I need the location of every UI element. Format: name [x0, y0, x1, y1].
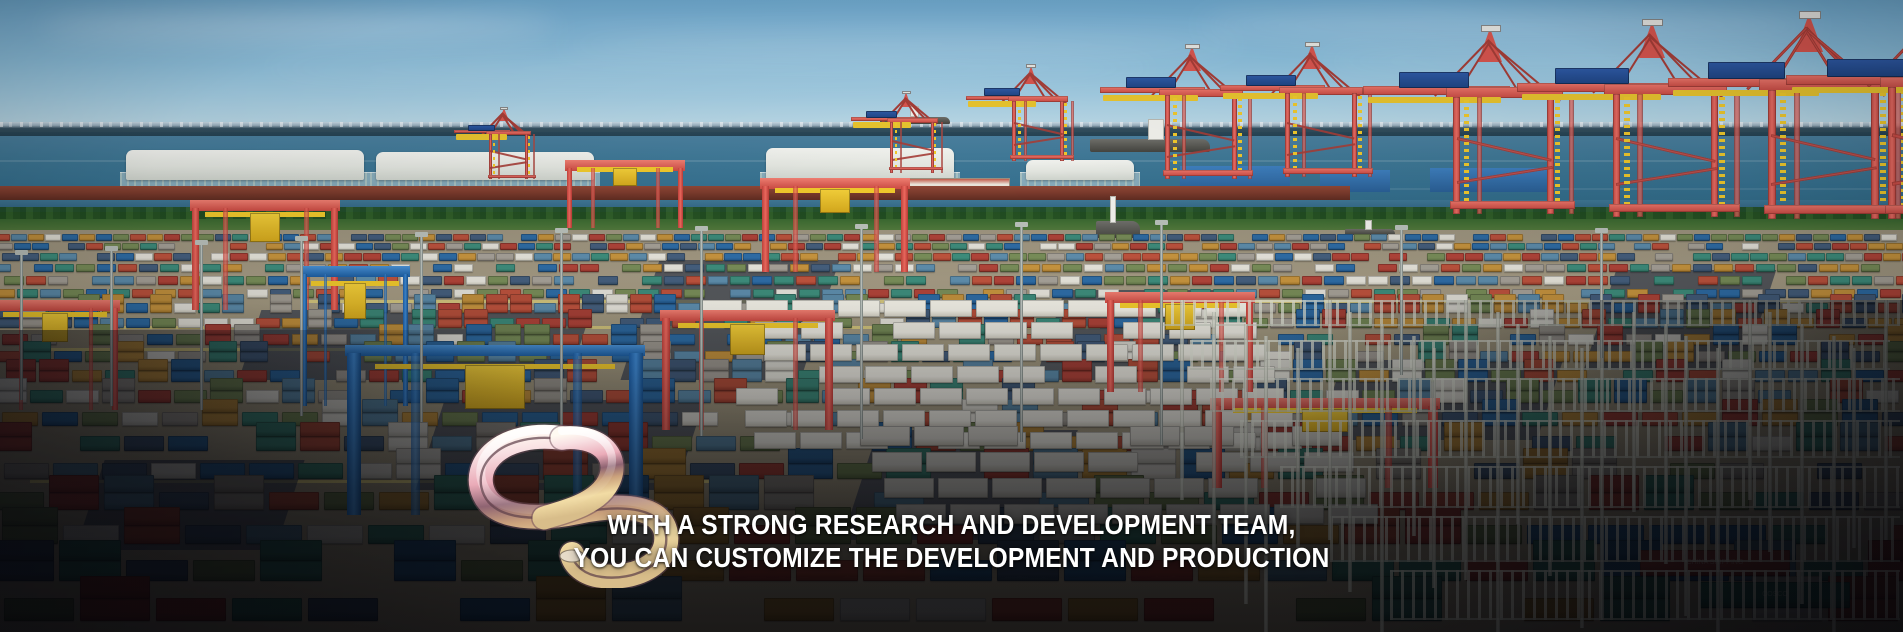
shipping-container [1252, 234, 1268, 241]
shipping-container [1180, 253, 1198, 261]
shipping-container [80, 598, 150, 621]
shipping-container [464, 309, 488, 319]
shipping-container [209, 341, 237, 352]
shipping-container [518, 243, 535, 250]
shipping-container [933, 253, 951, 261]
shipping-container [1354, 234, 1370, 241]
shipping-container [1351, 253, 1369, 261]
shipping-container [1144, 598, 1214, 621]
shipping-container [662, 243, 679, 250]
shipping-container [582, 334, 608, 345]
shipping-container [80, 436, 120, 451]
shipping-container [1218, 253, 1236, 261]
shipping-container [466, 276, 486, 285]
shipping-container [1337, 234, 1353, 241]
shipping-container [966, 388, 1008, 405]
shipping-container [1522, 276, 1542, 285]
shipping-container [1522, 253, 1540, 261]
shipping-container [1231, 264, 1250, 272]
shipping-container [114, 276, 134, 285]
shipping-container [914, 426, 964, 446]
shipping-container [176, 334, 202, 345]
shipping-container [1294, 253, 1312, 261]
racking-post [1832, 336, 1836, 632]
shipping-container [914, 243, 931, 250]
shipping-container [482, 243, 499, 250]
shipping-container [906, 276, 926, 285]
shipping-container [691, 234, 707, 241]
shipping-container [1351, 289, 1372, 298]
shipping-container [150, 303, 172, 313]
shipping-container [611, 334, 637, 345]
light-mast [1020, 222, 1023, 442]
shipping-container [884, 478, 934, 498]
shipping-container [158, 276, 178, 285]
shipping-container [1082, 276, 1102, 285]
shipping-container [1075, 289, 1096, 298]
shipping-container [1819, 264, 1838, 272]
shipping-container [553, 334, 579, 345]
shipping-container [1541, 253, 1559, 261]
shipping-container [1693, 253, 1711, 261]
shipping-container [674, 234, 690, 241]
shipping-container [1022, 300, 1064, 317]
shipping-container [40, 289, 61, 298]
shipping-container [510, 303, 532, 313]
shipping-container [500, 243, 517, 250]
shipping-container [42, 412, 78, 426]
shipping-container [1503, 253, 1521, 261]
shipping-container [1199, 253, 1217, 261]
shipping-container [932, 243, 949, 250]
shipping-container [1811, 289, 1832, 298]
shipping-container [1104, 253, 1122, 261]
shipping-container [1336, 264, 1355, 272]
shipping-container [160, 264, 179, 272]
shipping-container [138, 359, 168, 371]
shipping-container [136, 276, 156, 285]
shipping-container [709, 475, 759, 493]
shipping-container [0, 422, 32, 437]
shipping-container [368, 234, 384, 241]
shipping-container [1166, 243, 1183, 250]
shipping-container [1579, 253, 1597, 261]
shipping-container [438, 309, 462, 319]
shipping-container [979, 264, 998, 272]
shipping-container [1269, 234, 1285, 241]
shipping-container [439, 253, 457, 261]
shipping-container [608, 243, 625, 250]
shipping-container [1588, 264, 1607, 272]
shipping-container [1456, 276, 1476, 285]
shipping-container [1880, 289, 1901, 298]
shipping-container [240, 351, 268, 362]
shipping-container [178, 318, 202, 328]
shipping-container [1745, 234, 1761, 241]
shipping-container [147, 334, 173, 345]
shipping-container [1420, 264, 1439, 272]
shipping-container [708, 234, 724, 241]
shipping-container [1126, 264, 1145, 272]
shipping-container [764, 598, 834, 621]
shipping-container [210, 378, 243, 391]
shipping-container [1161, 253, 1179, 261]
shipping-container [422, 276, 442, 285]
shipping-container [1332, 253, 1350, 261]
shipping-container [640, 234, 656, 241]
shipping-container [891, 289, 912, 298]
shipping-container [524, 334, 550, 345]
shipping-container [902, 344, 944, 361]
shipping-container [1065, 234, 1081, 241]
shipping-container [948, 344, 990, 361]
shipping-container [363, 253, 381, 261]
light-mast [20, 250, 23, 400]
shipping-container [1478, 276, 1498, 285]
shipping-container [1082, 234, 1098, 241]
shipping-container [1273, 264, 1292, 272]
shipping-container [788, 448, 833, 464]
shipping-container [1742, 243, 1759, 250]
caption-line-1: WITH A STRONG RESEARCH AND DEVELOPMENT T… [114, 508, 1789, 541]
shipping-container [1066, 253, 1084, 261]
shipping-container [152, 318, 176, 328]
hero-banner: CHINA SHIPPINGCOSCOCHINA SHIPPINGCOSCO [0, 0, 1903, 632]
shipping-container [1840, 264, 1859, 272]
shipping-container [986, 243, 1003, 250]
racking-post [1684, 336, 1688, 616]
shipping-container [1280, 276, 1300, 285]
shipping-container [975, 410, 1017, 427]
shipping-container [1310, 243, 1327, 250]
shipping-container [572, 234, 588, 241]
cloud-wisp-icon [40, 14, 560, 40]
shipping-container [156, 598, 226, 621]
shipping-container [300, 422, 340, 437]
shipping-container [392, 243, 409, 250]
shipping-container [1490, 234, 1506, 241]
shipping-container [538, 234, 554, 241]
shipping-container [0, 234, 10, 241]
shipping-container [32, 243, 49, 250]
shipping-container [173, 253, 191, 261]
shipping-container [1302, 276, 1322, 285]
shipping-container [972, 276, 992, 285]
shipping-container [727, 264, 746, 272]
shipping-container [1236, 276, 1256, 285]
shipping-container [1788, 253, 1806, 261]
shipping-container [1048, 234, 1064, 241]
shipping-container [214, 475, 264, 493]
shipping-container [1484, 253, 1502, 261]
shipping-container [1427, 253, 1445, 261]
shipping-container [1040, 243, 1057, 250]
shipping-container [1525, 264, 1544, 272]
shipping-container [48, 276, 68, 285]
shipping-container [946, 234, 962, 241]
shipping-container [140, 243, 157, 250]
shipping-container [1588, 276, 1608, 285]
shipping-container [1058, 243, 1075, 250]
rubber-tyred-gantry-crane [760, 178, 910, 272]
shipping-container [1031, 234, 1047, 241]
shipping-container [1258, 276, 1278, 285]
shipping-container [1769, 253, 1787, 261]
shipping-container [1714, 264, 1733, 272]
shipping-container [1465, 253, 1483, 261]
shipping-container [1368, 276, 1388, 285]
shipping-container [724, 253, 742, 261]
ship-to-shore-gantry-crane [1588, 22, 1744, 219]
shipping-container [438, 318, 462, 328]
shipping-container [1719, 289, 1740, 298]
shipping-container [298, 463, 343, 479]
shipping-container [1405, 234, 1421, 241]
shipping-container [536, 598, 606, 621]
shipping-container [606, 294, 628, 304]
shipping-container [464, 243, 481, 250]
shipping-container [642, 276, 662, 285]
shipping-container [1130, 426, 1180, 446]
cloud-wisp-icon [560, 34, 1240, 54]
shipping-container [705, 253, 723, 261]
racking-post [1716, 348, 1720, 632]
shipping-container [1861, 264, 1880, 272]
shipping-container [968, 243, 985, 250]
shipping-container [1147, 264, 1166, 272]
shipping-container [79, 234, 95, 241]
shipping-container [754, 432, 796, 449]
shipping-container [911, 366, 953, 383]
shipping-container [1068, 598, 1138, 621]
shipping-container [1652, 243, 1669, 250]
shipping-container [1068, 300, 1110, 317]
shipping-container [860, 426, 910, 446]
shipping-container [410, 243, 427, 250]
shipping-container [382, 253, 400, 261]
rubber-tyred-gantry-crane [660, 310, 835, 430]
shipping-container [664, 276, 684, 285]
shipping-container [980, 452, 1030, 472]
shipping-container [1060, 276, 1080, 285]
shipping-container [916, 264, 935, 272]
shipping-container [1756, 264, 1775, 272]
shipping-container [1192, 276, 1212, 285]
shipping-container [1237, 253, 1255, 261]
shipping-container [138, 370, 168, 382]
shipping-container [460, 598, 530, 621]
shipping-container [470, 234, 486, 241]
shipping-container [1201, 234, 1217, 241]
shipping-container [1634, 243, 1651, 250]
racking-post [1412, 336, 1416, 536]
ship-to-shore-gantry-crane [1000, 66, 1076, 162]
light-mast [200, 240, 203, 410]
shipping-container [138, 390, 171, 403]
shipping-container [648, 253, 666, 261]
shipping-container [641, 448, 686, 464]
shipping-container [246, 390, 279, 403]
shipping-container [1441, 264, 1460, 272]
shipping-container [126, 318, 150, 328]
shipping-container [1560, 253, 1578, 261]
shipping-container [1750, 253, 1768, 261]
light-mast [110, 246, 113, 406]
shipping-container [1868, 243, 1885, 250]
shipping-container [496, 253, 514, 261]
ship-to-shore-gantry-crane [1268, 44, 1374, 178]
shipping-container [4, 463, 49, 479]
shipping-container [1012, 388, 1054, 405]
shipping-container [752, 276, 772, 285]
shipping-container [256, 422, 296, 437]
shipping-container [1252, 264, 1271, 272]
shipping-container [171, 370, 201, 382]
racking-post [1632, 312, 1636, 512]
shipping-container [1436, 243, 1453, 250]
shipping-container [1434, 276, 1454, 285]
shipping-container [1100, 478, 1150, 498]
shipping-container [1382, 243, 1399, 250]
shipping-container [1133, 234, 1149, 241]
shipping-container [1389, 253, 1407, 261]
shipping-container [453, 234, 469, 241]
shipping-container [1847, 234, 1863, 241]
shipping-container [1762, 234, 1778, 241]
shipping-container [992, 478, 1042, 498]
shipping-container [990, 253, 1008, 261]
shipping-container [1021, 264, 1040, 272]
shipping-container [510, 276, 530, 285]
shipping-container [158, 243, 175, 250]
shipping-container [958, 264, 977, 272]
shipping-container [1167, 234, 1183, 241]
shipping-container [643, 264, 662, 272]
shipping-container [49, 475, 99, 493]
shipping-container [1655, 253, 1673, 261]
shipping-container [534, 253, 552, 261]
shipping-container [1712, 253, 1730, 261]
shipping-container [86, 243, 103, 250]
shipping-container [338, 243, 355, 250]
shipping-container [976, 300, 1018, 317]
shipping-container [1609, 234, 1625, 241]
shipping-container [0, 436, 32, 451]
shipping-container [1566, 276, 1586, 285]
shipping-container [1654, 276, 1674, 285]
shipping-container [1063, 264, 1082, 272]
shipping-container [1256, 253, 1274, 261]
shipping-container [968, 426, 1018, 446]
shipping-container [1324, 276, 1344, 285]
shipping-container [202, 412, 238, 426]
shipping-container [1731, 253, 1749, 261]
shipping-container [124, 436, 164, 451]
light-mast [1400, 225, 1403, 375]
light-mast [560, 228, 563, 428]
shipping-container [1030, 432, 1072, 449]
shipping-container [1238, 243, 1255, 250]
shipping-container [930, 300, 972, 317]
shipping-container [1706, 243, 1723, 250]
shipping-container [202, 399, 238, 413]
shipping-container [1168, 264, 1187, 272]
racking-post [1328, 300, 1332, 540]
shipping-container [113, 234, 129, 241]
shipping-container [1698, 276, 1718, 285]
shipping-container [1796, 243, 1813, 250]
shipping-container [510, 294, 532, 304]
shipping-container [256, 436, 296, 451]
shipping-container [1864, 234, 1880, 241]
shipping-container [884, 276, 904, 285]
shipping-container [351, 234, 367, 241]
shipping-container [667, 253, 685, 261]
shipping-container [454, 264, 473, 272]
racking-post [1180, 300, 1184, 500]
shipping-container [1046, 478, 1096, 498]
shipping-container [1796, 234, 1812, 241]
shipping-container [730, 276, 750, 285]
shipping-container [130, 234, 146, 241]
shipping-container [1826, 253, 1844, 261]
shipping-container [147, 234, 163, 241]
shipping-container [1274, 243, 1291, 250]
racking-post [1264, 336, 1268, 632]
shipping-container [444, 276, 464, 285]
shipping-container [1472, 243, 1489, 250]
shipping-container [1832, 243, 1849, 250]
shipping-container [912, 234, 928, 241]
shipping-container [706, 264, 725, 272]
shipping-container [994, 344, 1036, 361]
shipping-container [515, 253, 533, 261]
ship-to-shore-gantry-crane [1862, 10, 1903, 221]
shipping-container [686, 276, 706, 285]
shipping-container [1286, 234, 1302, 241]
shipping-container [1034, 452, 1084, 472]
shipping-container [1814, 243, 1831, 250]
shipping-container [1320, 234, 1336, 241]
shipping-container [764, 475, 814, 493]
shipping-container [1580, 243, 1597, 250]
shipping-container [412, 309, 436, 319]
shipping-container [171, 359, 201, 371]
shipping-container [1735, 264, 1754, 272]
shipping-container [623, 234, 639, 241]
shipping-container [209, 351, 237, 362]
shipping-container [1220, 243, 1237, 250]
shipping-container [1004, 243, 1021, 250]
shipping-container [92, 276, 112, 285]
shipping-container [1660, 234, 1676, 241]
shipping-container [234, 324, 260, 335]
light-mast [300, 236, 303, 416]
shipping-container [534, 303, 556, 313]
shipping-container [1009, 253, 1027, 261]
racking-post [1748, 300, 1752, 500]
shipping-container [1282, 289, 1303, 298]
shipping-container [1490, 243, 1507, 250]
shipping-container [606, 303, 628, 313]
shipping-container [591, 253, 609, 261]
shipping-container [626, 243, 643, 250]
shipping-container [1000, 264, 1019, 272]
shipping-container [1850, 243, 1867, 250]
shipping-container [1874, 276, 1894, 285]
shipping-container [122, 412, 158, 426]
shipping-container [1150, 234, 1166, 241]
